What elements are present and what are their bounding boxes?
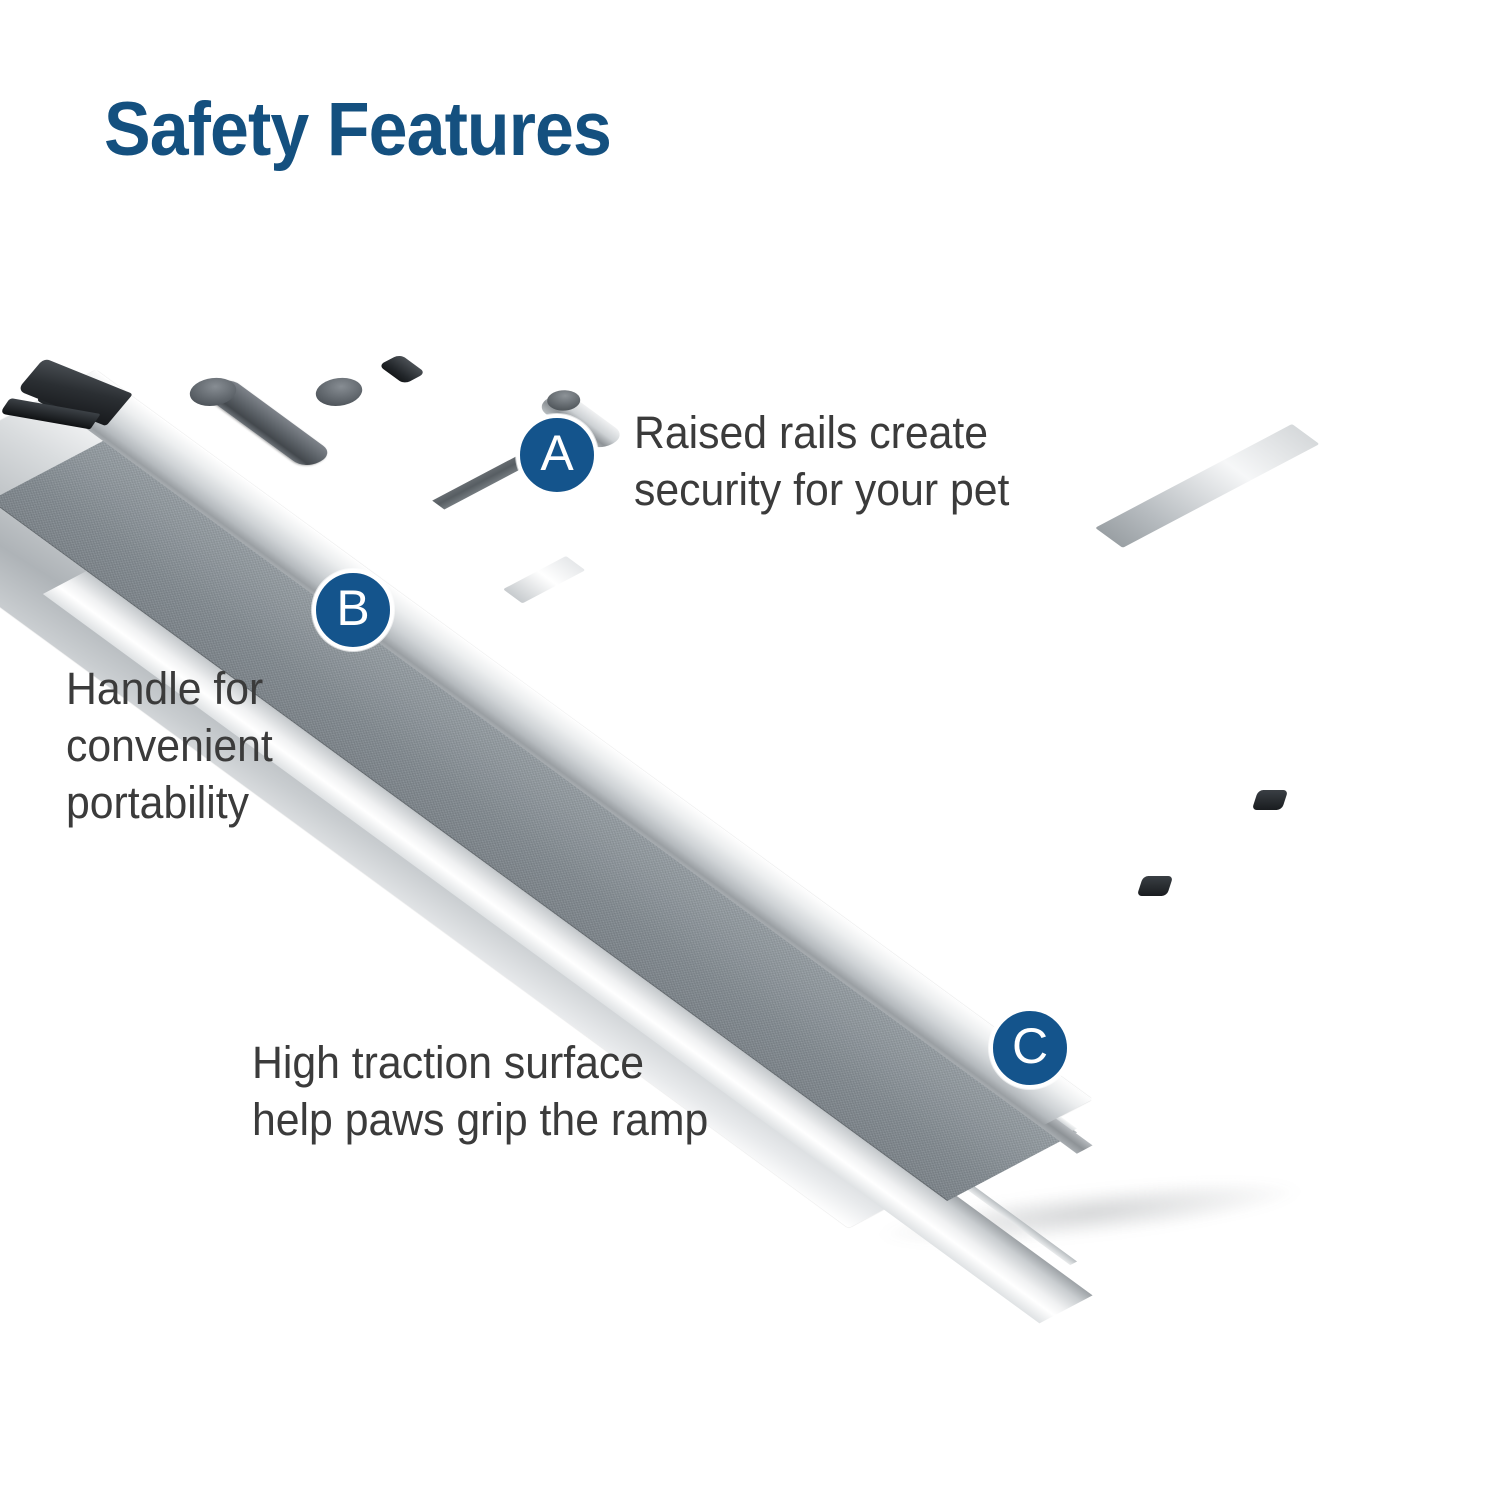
callout-text-b: Handle for convenient portability	[66, 660, 273, 831]
callout-badge-a-letter: A	[540, 428, 573, 478]
callout-text-a: Raised rails create security for your pe…	[634, 404, 1009, 518]
callout-badge-c[interactable]: C	[989, 1007, 1071, 1089]
ramp-end-cap	[1095, 424, 1319, 548]
callout-badge-b-letter: B	[336, 583, 369, 633]
callout-text-c: High traction surface help paws grip the…	[252, 1034, 708, 1148]
infographic-canvas: Safety Features	[0, 0, 1500, 1500]
callout-badge-c-letter: C	[1012, 1021, 1048, 1071]
carry-handle-end-right	[307, 372, 372, 412]
callout-badge-a[interactable]: A	[516, 414, 598, 496]
telescoping-slide-step	[503, 556, 585, 603]
callout-badge-b[interactable]: B	[312, 569, 394, 651]
rail-end-cap-top	[378, 354, 425, 384]
